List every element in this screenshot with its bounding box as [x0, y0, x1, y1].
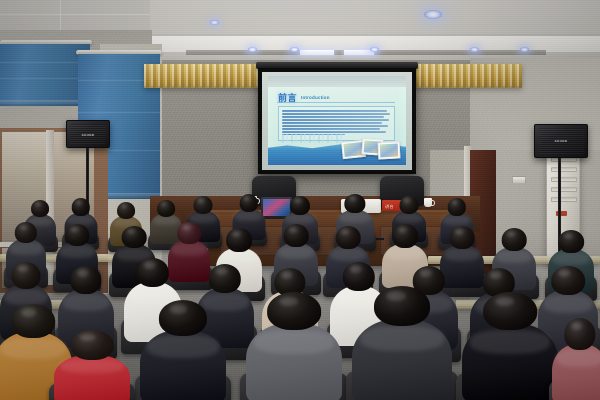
- ceiling-soffit: [150, 0, 600, 34]
- ceiling-light-main: [424, 10, 442, 19]
- slide-skyline-graphic: [282, 134, 342, 143]
- speaker-brand-label: SOUND: [555, 139, 568, 143]
- audience-head: [447, 198, 465, 216]
- audience-torso: [462, 323, 558, 400]
- downlight-icon: [290, 47, 299, 52]
- audience-head: [71, 330, 114, 360]
- audience-head: [177, 222, 201, 244]
- audience-head: [71, 198, 89, 216]
- slide-subtitle: Introduction: [301, 95, 330, 100]
- curtain-left[interactable]: [146, 84, 262, 202]
- audience-torso: [246, 323, 342, 400]
- speaker-brand-label: SOUND: [82, 133, 95, 137]
- audience-head: [193, 196, 212, 214]
- audience-head: [267, 292, 321, 330]
- downlight-icon: [470, 47, 479, 52]
- audience-head: [290, 196, 310, 215]
- slide-header-band: [268, 76, 406, 87]
- audience-torso: [352, 319, 452, 400]
- audience-person: [54, 330, 130, 400]
- wall-socket-panel[interactable]: [512, 176, 526, 184]
- audience-head: [284, 224, 309, 247]
- audience-head: [11, 304, 55, 338]
- audience-head: [450, 226, 475, 249]
- audience-head: [70, 266, 101, 294]
- audience-head: [502, 228, 527, 251]
- audience-head: [564, 318, 595, 350]
- trough-lamp-1: [300, 50, 334, 55]
- downlight-icon: [520, 47, 529, 52]
- audience-head: [336, 226, 361, 249]
- audience-head: [239, 194, 257, 212]
- audience-head: [558, 230, 584, 253]
- audience-person: [462, 292, 558, 400]
- audience-person: [246, 292, 342, 400]
- audience-head: [157, 200, 175, 217]
- audience-person: [352, 286, 452, 400]
- audience-head: [137, 258, 169, 287]
- downlight-icon: [248, 47, 257, 52]
- slide-photo-thumb: [378, 141, 401, 159]
- audience-torso: [140, 330, 226, 400]
- audience-torso: [552, 344, 600, 400]
- audience-torso: [54, 355, 130, 400]
- audience-person: [140, 300, 226, 400]
- audience-head: [392, 224, 418, 248]
- slide-title-rule: [277, 102, 395, 103]
- audience-head: [344, 194, 365, 213]
- trough-lamp-2: [344, 50, 374, 55]
- audience-head: [159, 300, 207, 336]
- audience-head: [117, 202, 135, 219]
- audience-head: [209, 264, 241, 293]
- audience-person: [552, 318, 600, 400]
- audience-head: [551, 266, 585, 295]
- conference-room-photo: 前言 Introduction SOUND SOUND: [0, 0, 600, 400]
- speaker-right: SOUND: [534, 124, 588, 158]
- audience-head: [226, 228, 252, 252]
- audience-head: [15, 222, 37, 243]
- audience-head: [122, 226, 147, 248]
- downlight-icon: [210, 20, 219, 25]
- presentation-slide: 前言 Introduction: [268, 76, 406, 165]
- audience-head: [399, 196, 418, 214]
- audience-head: [31, 200, 49, 217]
- audience-head: [374, 286, 430, 326]
- audience-head: [65, 224, 89, 246]
- audience-head: [483, 292, 537, 330]
- downlight-icon: [370, 47, 379, 52]
- audience-head: [11, 262, 40, 289]
- speaker-left: SOUND: [66, 120, 110, 148]
